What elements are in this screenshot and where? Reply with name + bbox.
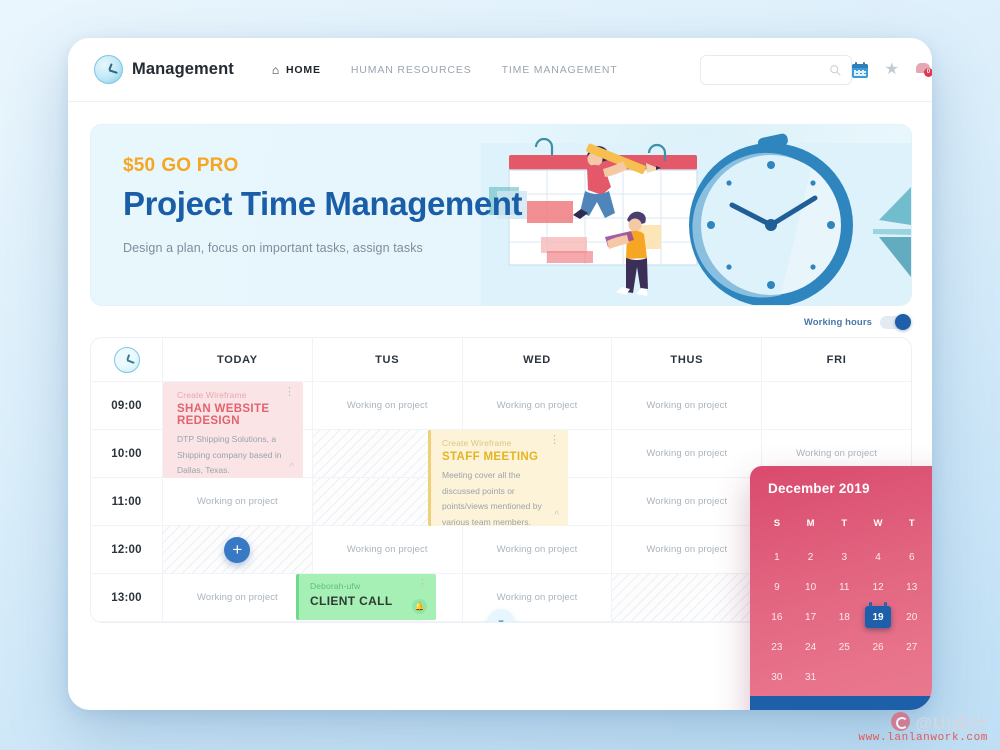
watermark-url: www.lanlanwork.com <box>858 732 988 744</box>
watermark-top: @UI设计 <box>858 709 988 734</box>
calendar-icon[interactable] <box>852 62 868 78</box>
weekday-label: T <box>895 518 929 529</box>
event-tag: Deborah-ufw <box>310 581 426 591</box>
add-new-event-button[interactable]: Add New Event <box>750 696 932 710</box>
day-header-wed[interactable]: WED <box>463 338 613 382</box>
date-cell[interactable]: 27 <box>895 642 929 653</box>
star-icon[interactable]: ★ <box>885 62 899 78</box>
slot-thus-1300[interactable] <box>612 574 762 622</box>
day-header-thus[interactable]: THUS <box>612 338 762 382</box>
app-window: Management ⌂ HOME HUMAN RESOURCES TIME M… <box>68 38 932 710</box>
clock-icon <box>94 55 123 84</box>
event-title: SHAN WEBSITE REDESIGN <box>177 403 293 427</box>
slot-thus-1200[interactable]: Working on project <box>612 526 762 574</box>
slot-today-1200[interactable]: + <box>163 526 313 574</box>
working-hours-row: Working hours <box>68 316 910 329</box>
weibo-icon <box>891 712 910 731</box>
add-event-button[interactable]: + <box>224 537 250 563</box>
brand[interactable]: Management <box>94 55 234 84</box>
date-cell[interactable]: 1 <box>760 552 794 563</box>
time-label-1000: 10:00 <box>91 430 163 478</box>
brand-name: Management <box>132 60 234 79</box>
kebab-menu-icon[interactable]: ⋮ <box>284 389 295 396</box>
event-card-staff-meeting[interactable]: ⋮ Create Wireframe STAFF MEETING Meeting… <box>428 430 568 526</box>
slot-thus-0900[interactable]: Working on project <box>612 382 762 430</box>
chevron-up-icon[interactable]: ^ <box>554 510 559 521</box>
day-header-today[interactable]: TODAY <box>163 338 313 382</box>
slot-today-1100[interactable]: Working on project <box>163 478 313 526</box>
nav-item-home[interactable]: ⌂ HOME <box>272 64 351 76</box>
slot-tus-0900[interactable]: Working on project <box>313 382 463 430</box>
event-card-client-call[interactable]: ⋮ Deborah-ufw CLIENT CALL 🔔 <box>296 574 436 620</box>
date-cell-selected[interactable]: 19 <box>861 606 895 628</box>
kebab-menu-icon[interactable]: ⋮ <box>417 581 428 588</box>
slot-wed-1300[interactable]: Working on project <box>463 574 613 622</box>
date-picker-weekday-row: S M T W T F S <box>750 510 932 536</box>
date-picker-week: 9 10 11 12 13 14 15 <box>750 572 932 602</box>
nav-item-human-resources[interactable]: HUMAN RESOURCES <box>351 64 502 76</box>
weekday-label: M <box>794 518 828 529</box>
home-icon: ⌂ <box>272 64 280 76</box>
chat-badge: 0 <box>924 68 932 77</box>
time-label-0900: 09:00 <box>91 382 163 430</box>
toggle-knob <box>895 314 911 330</box>
hero-text: $50GO PRO Project Time Management Design… <box>123 155 522 255</box>
nav-item-time-management[interactable]: TIME MANAGEMENT <box>502 64 648 76</box>
date-picker-month-title: December 2019 <box>768 481 870 496</box>
date-cell[interactable]: 10 <box>794 582 828 593</box>
watermark-handle: @UI设计 <box>915 709 988 734</box>
weekday-label: S <box>760 518 794 529</box>
event-card-shan-website-redesign[interactable]: ⋮ Create Wireframe SHAN WEBSITE REDESIGN… <box>163 382 303 478</box>
date-picker-week: 16 17 18 19 20 21 22 <box>750 602 932 632</box>
kebab-menu-icon[interactable]: ⋮ <box>549 437 560 444</box>
date-cell[interactable]: 28 <box>929 642 932 653</box>
day-header-fri[interactable]: FRI <box>762 338 911 382</box>
date-cell[interactable]: 11 <box>827 582 861 593</box>
date-picker-week: 1 2 3 4 6 7 8 <box>750 542 932 572</box>
date-picker-week: 30 31 <box>750 662 932 692</box>
slot-wed-0900[interactable]: Working on project <box>463 382 613 430</box>
date-cell[interactable]: 21 <box>929 612 932 623</box>
hero-kicker: $50GO PRO <box>123 155 522 177</box>
hero-banner: $50GO PRO Project Time Management Design… <box>90 124 912 306</box>
weekday-label: W <box>861 518 895 529</box>
hero-price: $50 <box>123 155 155 176</box>
date-cell[interactable]: 25 <box>827 642 861 653</box>
date-picker-week: 23 24 25 26 27 28 29 <box>750 632 932 662</box>
slot-tus-1200[interactable]: Working on project <box>313 526 463 574</box>
date-cell[interactable]: 24 <box>794 642 828 653</box>
event-description: DTP Shipping Solutions, a Shipping compa… <box>177 432 293 478</box>
date-cell[interactable]: 18 <box>827 612 861 623</box>
weekday-label: T <box>827 518 861 529</box>
time-label-1100: 11:00 <box>91 478 163 526</box>
event-description: Meeting cover all the discussed points o… <box>442 468 558 526</box>
hero-subtitle: Design a plan, focus on important tasks,… <box>123 241 522 255</box>
date-cell[interactable]: 17 <box>794 612 828 623</box>
top-navigation-bar: Management ⌂ HOME HUMAN RESOURCES TIME M… <box>68 38 932 102</box>
header-icon-group: ★ 0 <box>852 55 932 84</box>
date-cell[interactable]: 2 <box>794 552 828 563</box>
day-header-tus[interactable]: TUS <box>313 338 463 382</box>
slot-wed-1200[interactable]: Working on project <box>463 526 613 574</box>
event-title: CLIENT CALL <box>310 594 426 608</box>
clock-icon <box>114 347 140 373</box>
date-cell[interactable]: 31 <box>794 672 828 683</box>
event-title: STAFF MEETING <box>442 451 558 463</box>
slot-thus-1000[interactable]: Working on project <box>612 430 762 478</box>
slot-thus-1100[interactable]: Working on project <box>612 478 762 526</box>
nav-links: ⌂ HOME HUMAN RESOURCES TIME MANAGEMENT <box>272 64 648 76</box>
event-tag: Create Wireframe <box>177 390 293 400</box>
date-picker: December 2019 ‹ › S M T W T F S 1 2 3 4 … <box>750 466 932 710</box>
hero-pro-label: GO PRO <box>161 155 238 176</box>
search-input[interactable] <box>711 63 829 77</box>
working-hours-toggle[interactable] <box>880 316 910 329</box>
date-cell[interactable]: 3 <box>827 552 861 563</box>
weekday-label: F <box>929 518 932 529</box>
watermark: @UI设计 www.lanlanwork.com <box>858 709 988 744</box>
chevron-up-icon[interactable]: ^ <box>289 462 294 473</box>
date-cell[interactable]: 20 <box>895 612 929 623</box>
selected-day-badge: 19 <box>865 606 891 628</box>
event-tag: Create Wireframe <box>442 438 558 448</box>
time-label-1300: 13:00 <box>91 574 163 622</box>
date-cell[interactable]: 4 <box>861 552 895 563</box>
date-cell[interactable]: 14 <box>929 582 932 593</box>
date-cell[interactable]: 23 <box>760 642 794 653</box>
date-cell[interactable]: 30 <box>760 672 794 683</box>
slot-fri-0900[interactable] <box>762 382 911 430</box>
hero-illustration <box>481 125 911 305</box>
chat-icon[interactable]: 0 <box>916 62 932 77</box>
slot-today-1300[interactable]: Working on project <box>163 574 313 622</box>
date-picker-header: December 2019 ‹ › <box>750 466 932 510</box>
schedule-clock-cell <box>91 338 163 382</box>
schedule-header-row: TODAY TUS WED THUS FRI <box>91 338 911 382</box>
date-cell[interactable]: 16 <box>760 612 794 623</box>
date-cell[interactable]: 13 <box>895 582 929 593</box>
date-cell[interactable]: 9 <box>760 582 794 593</box>
date-cell[interactable]: 6 <box>895 552 929 563</box>
date-picker-grid: 1 2 3 4 6 7 8 9 10 11 12 13 14 15 16 17 … <box>750 536 932 692</box>
time-label-1200: 12:00 <box>91 526 163 574</box>
date-cell[interactable]: 26 <box>861 642 895 653</box>
nav-item-home-label: HOME <box>286 64 321 76</box>
date-cell[interactable]: 12 <box>861 582 895 593</box>
search-icon <box>829 64 841 76</box>
date-cell[interactable]: 7 <box>929 552 932 563</box>
search-box[interactable] <box>700 55 852 85</box>
bell-icon[interactable]: 🔔 <box>412 599 427 614</box>
hero-title: Project Time Management <box>123 186 522 222</box>
working-hours-label: Working hours <box>804 317 872 328</box>
